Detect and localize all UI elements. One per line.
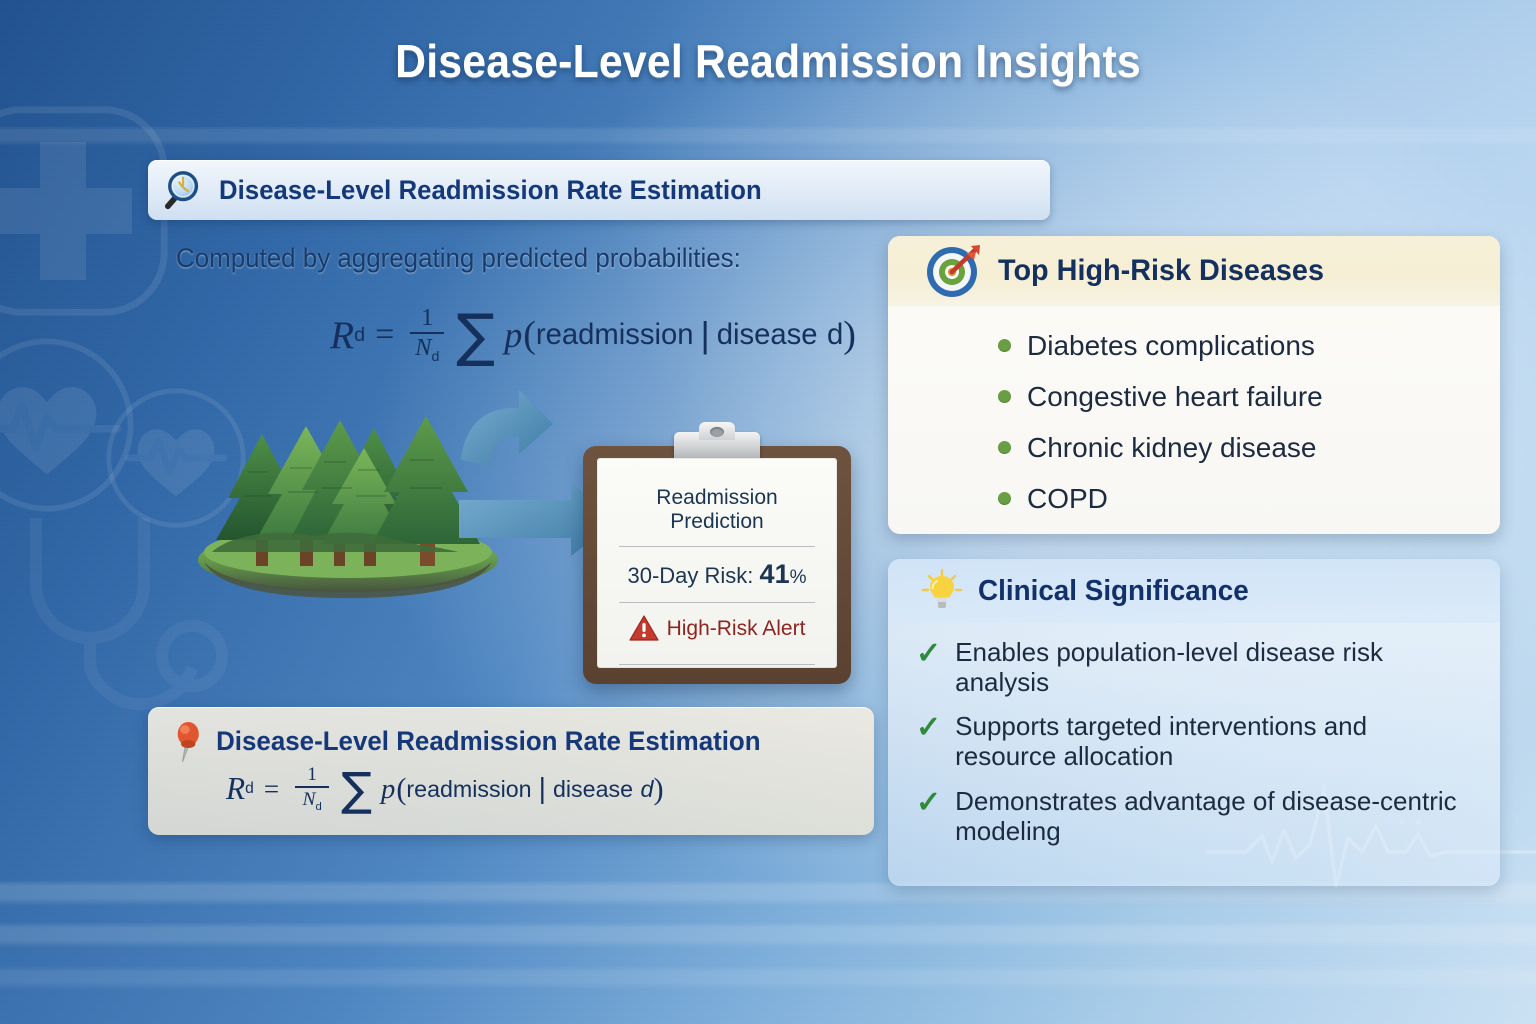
formula-p: p bbox=[504, 314, 522, 356]
bullet-dot-icon bbox=[998, 339, 1011, 352]
check-icon: ✓ bbox=[916, 713, 941, 743]
list-item-label: COPD bbox=[1027, 483, 1108, 515]
formula-lhs: R bbox=[330, 312, 354, 358]
list-item[interactable]: Chronic kidney disease bbox=[888, 422, 1500, 473]
check-icon: ✓ bbox=[916, 788, 941, 818]
bullet-dot-icon bbox=[998, 390, 1011, 403]
list-item-label: Diabetes complications bbox=[1027, 330, 1315, 362]
formula-open-paren: ( bbox=[523, 313, 536, 357]
clipboard-divider-1 bbox=[619, 546, 815, 547]
clipboard-title: Readmission Prediction bbox=[613, 486, 821, 534]
list-item[interactable]: Diabetes complications bbox=[888, 320, 1500, 371]
panel-top-high-risk-diseases: Top High-Risk Diseases Diabetes complica… bbox=[888, 236, 1500, 534]
formula-arg-var: d bbox=[827, 319, 843, 352]
formula-lhs-sub: d bbox=[354, 324, 365, 347]
clipboard-divider-3 bbox=[619, 664, 815, 665]
clipboard-risk-value: 41 bbox=[760, 559, 790, 589]
list-item-label: Enables population-level disease risk an… bbox=[955, 637, 1474, 697]
list-item[interactable]: ✓Enables population-level disease risk a… bbox=[916, 637, 1474, 697]
target-dartboard-icon bbox=[922, 240, 984, 302]
list-item-label: Supports targeted interventions and reso… bbox=[955, 711, 1474, 771]
heart-pulse-icon bbox=[0, 330, 142, 520]
list-item[interactable]: Congestive heart failure bbox=[888, 371, 1500, 422]
formula-arg-right: disease bbox=[717, 319, 818, 352]
panel-clinical-significance: Clinical Significance ✓Enables populatio… bbox=[888, 559, 1500, 886]
check-icon: ✓ bbox=[916, 639, 941, 669]
panel-risk-header: Top High-Risk Diseases bbox=[888, 236, 1500, 306]
section-banner-label: Disease-Level Readmission Rate Estimatio… bbox=[219, 175, 762, 206]
list-item[interactable]: ✓Supports targeted interventions and res… bbox=[916, 711, 1474, 771]
pinned-panel-title: Disease-Level Readmission Rate Estimatio… bbox=[216, 726, 761, 757]
clipboard-paper: Readmission Prediction 30-Day Risk: 41% … bbox=[597, 458, 837, 668]
panel-risk-title: Top High-Risk Diseases bbox=[998, 254, 1324, 288]
clipboard-divider-2 bbox=[619, 602, 815, 603]
curved-up-arrow bbox=[461, 390, 553, 466]
panel-risk-list: Diabetes complications Congestive heart … bbox=[888, 306, 1500, 524]
bullet-dot-icon bbox=[998, 441, 1011, 454]
pinned-formula-panel: Disease-Level Readmission Rate Estimatio… bbox=[148, 707, 874, 835]
bullet-dot-icon bbox=[998, 492, 1011, 505]
panel-clinical-title: Clinical Significance bbox=[978, 575, 1249, 608]
formula-numerator: 1 bbox=[421, 306, 433, 332]
list-item[interactable]: COPD bbox=[888, 473, 1500, 524]
clipboard-risk-label: 30-Day Risk: bbox=[628, 563, 754, 588]
left-subtitle: Computed by aggregating predicted probab… bbox=[176, 243, 741, 274]
formula-fraction: 1 Nd bbox=[410, 306, 444, 365]
list-item[interactable]: ✓Demonstrates advantage of disease-centr… bbox=[916, 786, 1474, 846]
section-banner[interactable]: Disease-Level Readmission Rate Estimatio… bbox=[148, 160, 1050, 220]
formula-pinned: Rd = 1 Nd ∑ p(readmission|disease d) bbox=[226, 765, 664, 814]
formula-denominator: Nd bbox=[415, 334, 439, 364]
pushpin-icon bbox=[170, 719, 205, 763]
formula-equals: = bbox=[375, 316, 394, 354]
clipboard-alert: High-Risk Alert bbox=[613, 615, 821, 642]
list-item-label: Congestive heart failure bbox=[1027, 381, 1323, 413]
list-item-label: Demonstrates advantage of disease-centri… bbox=[955, 786, 1474, 846]
formula-main: Rd = 1 Nd ∑ p(readmission|disease d) bbox=[330, 306, 856, 365]
panel-clinical-list: ✓Enables population-level disease risk a… bbox=[888, 623, 1500, 846]
lightbulb-icon bbox=[920, 567, 964, 615]
list-item-label: Chronic kidney disease bbox=[1027, 432, 1317, 464]
pinned-panel-title-row: Disease-Level Readmission Rate Estimatio… bbox=[170, 719, 829, 763]
clipboard-risk-unit: % bbox=[790, 567, 807, 588]
panel-clinical-header: Clinical Significance bbox=[888, 559, 1500, 623]
infographic-canvas: Disease-Level Readmission Insights Disea… bbox=[0, 0, 1536, 1024]
formula-sigma: ∑ bbox=[456, 312, 495, 358]
formula-arg-left: readmission bbox=[536, 319, 694, 352]
formula-divider: | bbox=[701, 315, 710, 356]
magnifier-icon bbox=[164, 169, 206, 211]
warning-triangle-icon bbox=[629, 615, 659, 642]
clipboard-risk-row: 30-Day Risk: 41% bbox=[613, 559, 821, 590]
clipboard-card: Readmission Prediction 30-Day Risk: 41% … bbox=[583, 446, 851, 684]
page-title: Disease-Level Readmission Insights bbox=[54, 34, 1482, 88]
clipboard-alert-text: High-Risk Alert bbox=[667, 617, 806, 641]
formula-close-paren: ) bbox=[843, 313, 856, 357]
